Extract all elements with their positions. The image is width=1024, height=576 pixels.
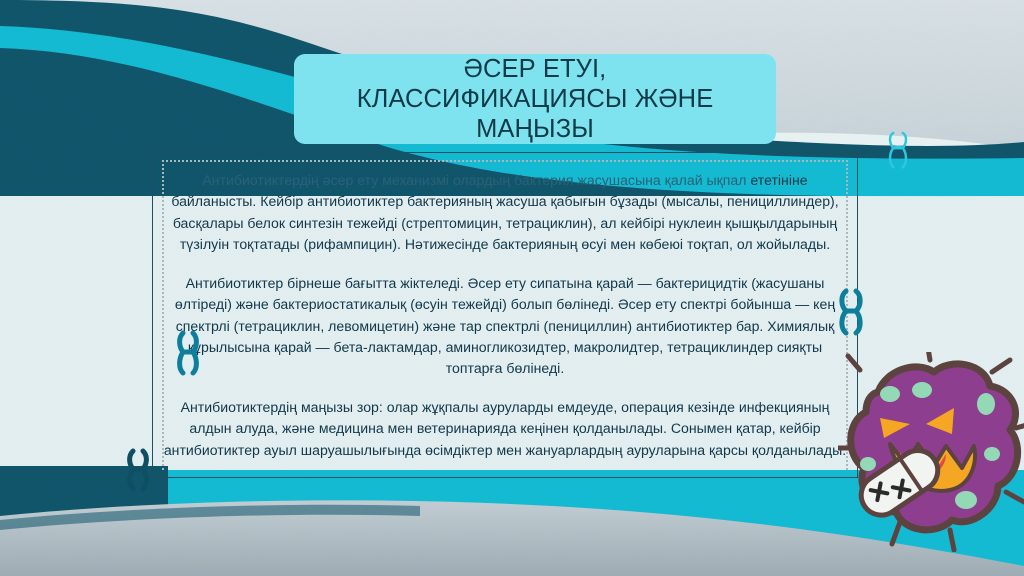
body-text: Антибиотиктердің әсер ету механизмі олар… [162,170,848,461]
page-title: ӘСЕР ЕТУІ, КЛАССИФИКАЦИЯСЫ ЖӘНЕ МАҢЫЗЫ [357,54,714,144]
slide-canvas: ӘСЕР ЕТУІ, КЛАССИФИКАЦИЯСЫ ЖӘНЕ МАҢЫЗЫ А… [0,0,1024,576]
chromosome-icon-top-right [884,131,912,171]
paragraph-1-first-line: Антибиотиктердің әсер ету механизмі олар… [202,172,746,188]
chromosome-icon-bottom-left [126,448,150,492]
paragraph-3: Антибиотиктердің маңызы зор: олар жұқпал… [162,397,848,461]
title-box: ӘСЕР ЕТУІ, КЛАССИФИКАЦИЯСЫ ЖӘНЕ МАҢЫЗЫ [294,54,776,144]
virus-germ-character [838,352,1024,552]
paragraph-2: Антибиотиктер бірнеше бағытта жіктеледі.… [162,273,848,380]
chromosome-icon-right [838,288,864,336]
paragraph-1: Антибиотиктердің әсер ету механизмі олар… [162,170,848,256]
chromosome-icon-left [176,330,200,376]
